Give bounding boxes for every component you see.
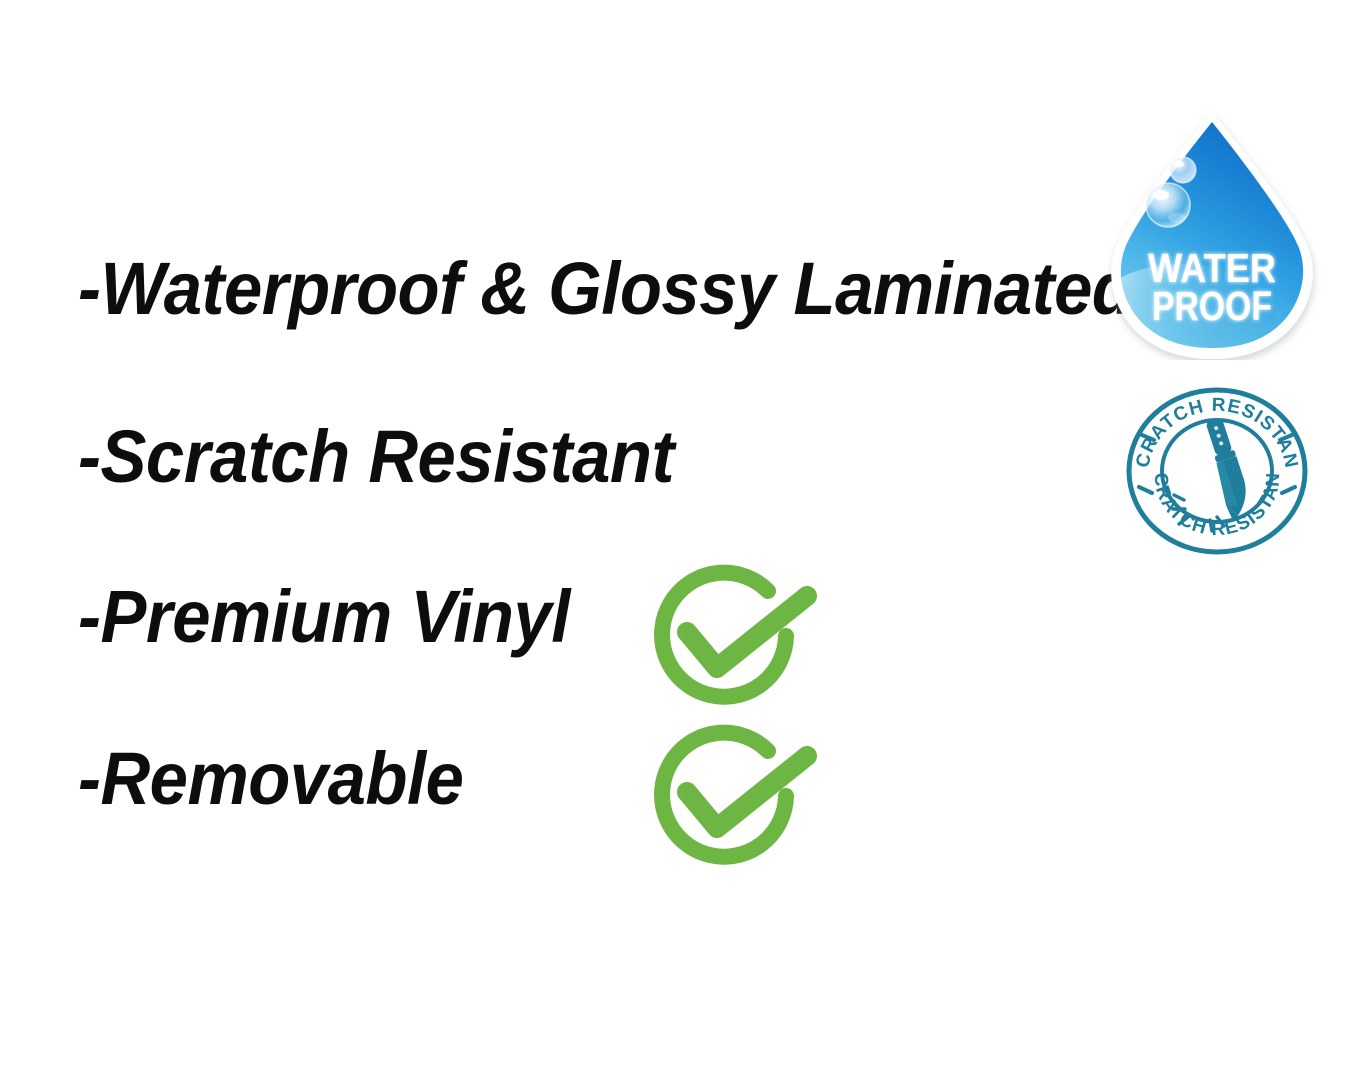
feature-row-premium-vinyl: -Premium Vinyl (78, 580, 607, 654)
droplet-text-group: WATER PROOF (1148, 245, 1276, 329)
feature-row-waterproof-glossy: -Waterproof & Glossy Laminated (78, 252, 1213, 326)
feature-list-page: -Waterproof & Glossy Laminated -Scratch … (0, 0, 1359, 1080)
feature-label-scratch-resistant: -Scratch Resistant (78, 420, 674, 494)
feature-label-premium-vinyl: -Premium Vinyl (78, 580, 570, 654)
green-check-icon-premium-vinyl (640, 558, 836, 708)
water-bubble-large (1146, 183, 1190, 227)
feature-label-waterproof-glossy: -Waterproof & Glossy Laminated (78, 252, 1133, 326)
waterproof-droplet-badge: WATER PROOF (1103, 108, 1321, 360)
waterproof-line2: PROOF (1152, 283, 1272, 329)
feature-row-removable: -Removable (78, 742, 492, 816)
scratch-resistant-stamp-badge: SCRATCH RESISTANT SCRATCH RESISTANT (1122, 383, 1312, 558)
knife-icon (1200, 416, 1256, 522)
feature-label-removable: -Removable (78, 742, 463, 816)
water-bubble-small (1170, 157, 1196, 183)
green-check-icon-removable (640, 718, 836, 868)
feature-row-scratch-resistant: -Scratch Resistant (78, 420, 719, 494)
